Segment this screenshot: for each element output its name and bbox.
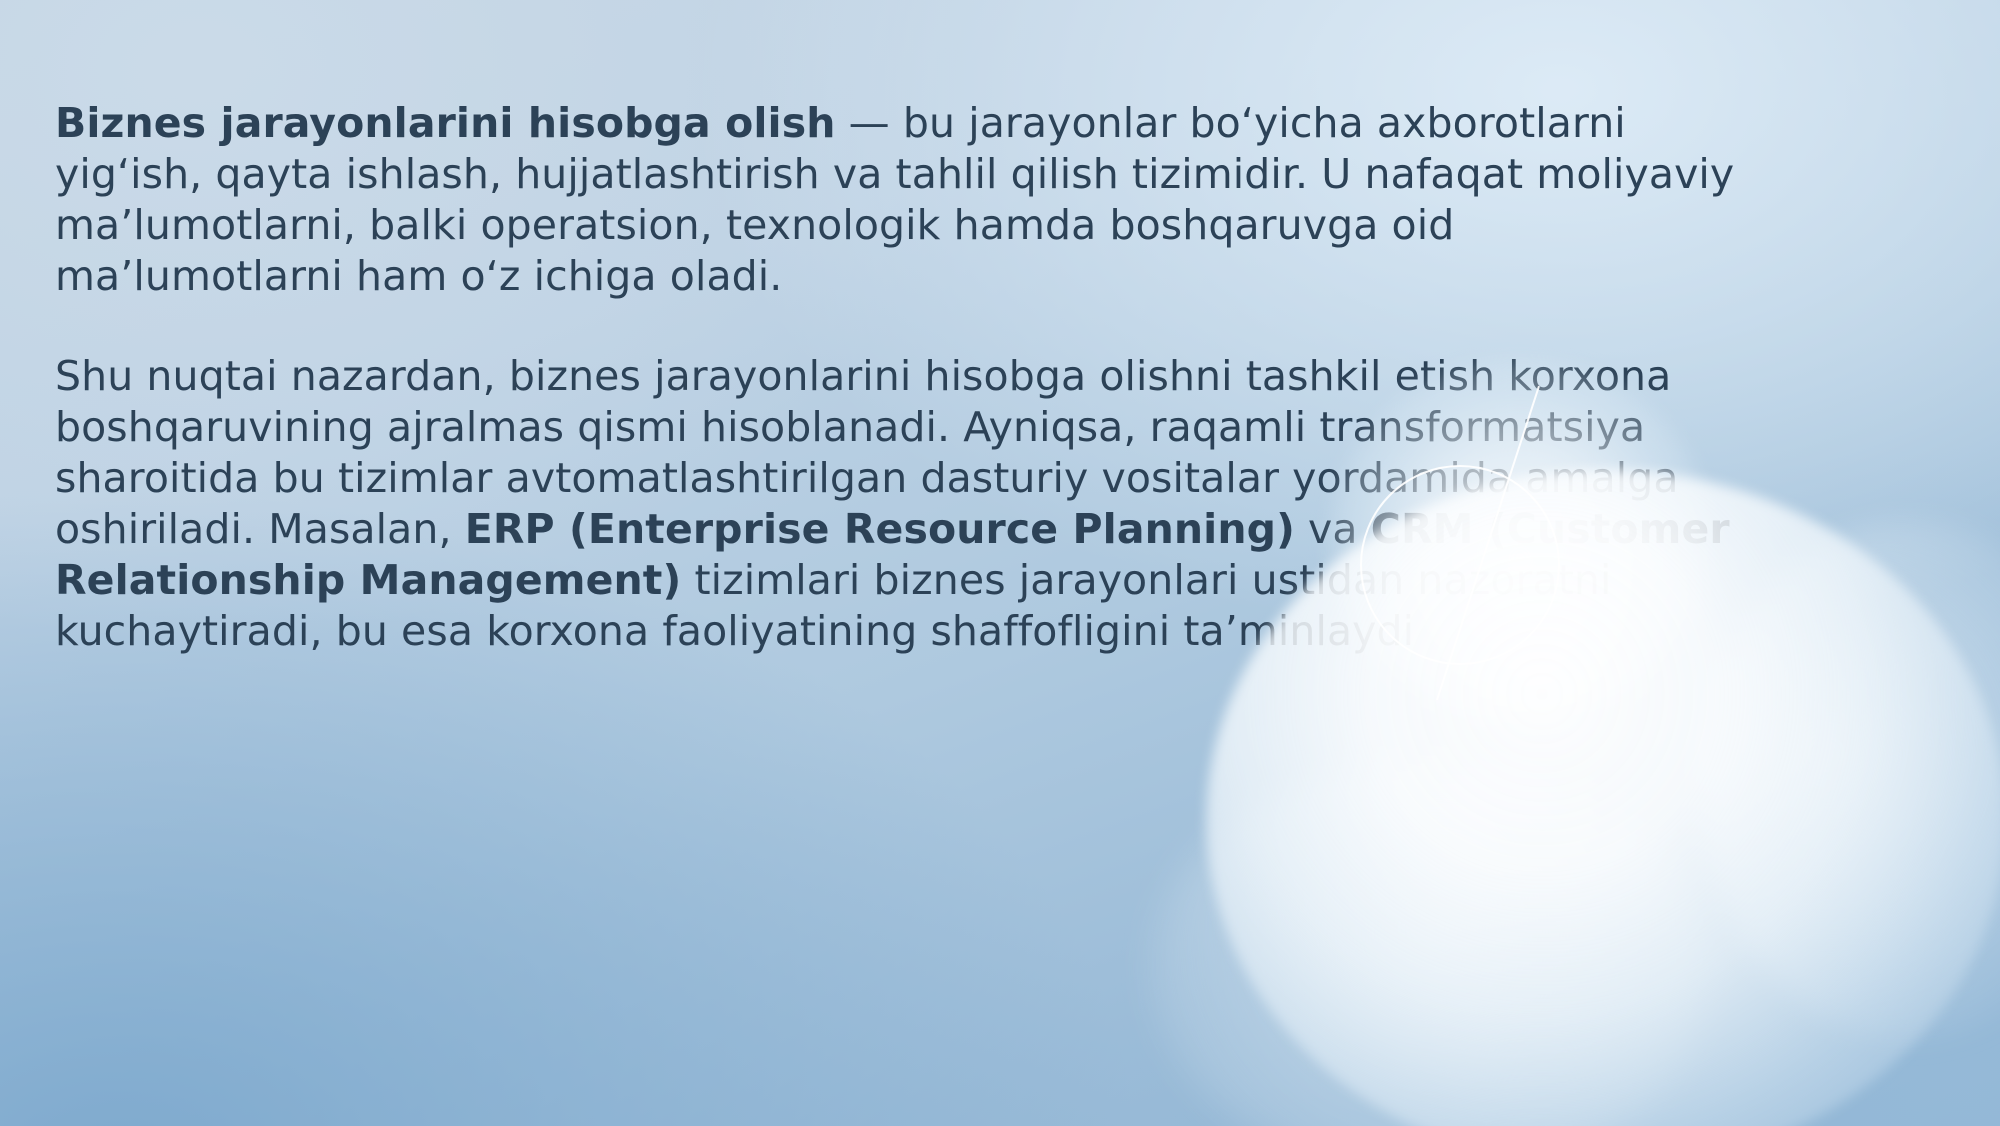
paragraph-spacer bbox=[55, 302, 1755, 351]
paragraph-1: Biznes jarayonlarini hisobga olish — bu … bbox=[55, 98, 1755, 302]
slide-body-text: Biznes jarayonlarini hisobga olish — bu … bbox=[55, 98, 1755, 657]
slide-canvas: Biznes jarayonlarini hisobga olish — bu … bbox=[0, 0, 2000, 1126]
term-biznes-jarayonlari: Biznes jarayonlarini hisobga olish bbox=[55, 99, 836, 147]
paragraph-2-segment-2: va bbox=[1295, 505, 1371, 553]
paragraph-2: Shu nuqtai nazardan, biznes jarayonlarin… bbox=[55, 351, 1755, 657]
soft-white-blob-bottom-icon bbox=[1150, 760, 1710, 1126]
term-erp: ERP (Enterprise Resource Planning) bbox=[465, 505, 1295, 553]
